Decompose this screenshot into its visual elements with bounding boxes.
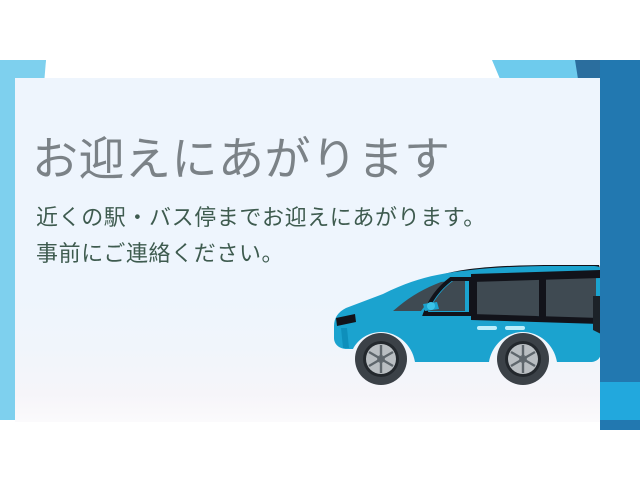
- car-door-handle-front: [477, 326, 497, 330]
- car-window-divider-1: [471, 276, 477, 318]
- car-middle-window: [477, 278, 539, 316]
- car-rear-window: [546, 276, 596, 320]
- car-mirror-glass: [427, 302, 435, 310]
- right-vertical-band-shape: [600, 60, 640, 430]
- content-card: お迎えにあがります 近くの駅・バス停までお迎えにあがります。 事前にご連絡くださ…: [15, 78, 600, 422]
- pickup-service-banner: お迎えにあがります 近くの駅・バス停までお迎えにあがります。 事前にご連絡くださ…: [0, 0, 640, 480]
- page-title: お迎えにあがります: [32, 131, 451, 187]
- body-line-1: 近くの駅・バス停までお迎えにあがります。: [36, 200, 486, 236]
- top-right-light-band-shape: [492, 60, 622, 79]
- top-right-steel-band-shape: [575, 60, 624, 79]
- car-window-divider-2: [539, 274, 546, 320]
- minivan-illustration: [325, 256, 600, 396]
- car-tail-light: [593, 296, 600, 334]
- car-door-handle-rear: [505, 326, 525, 330]
